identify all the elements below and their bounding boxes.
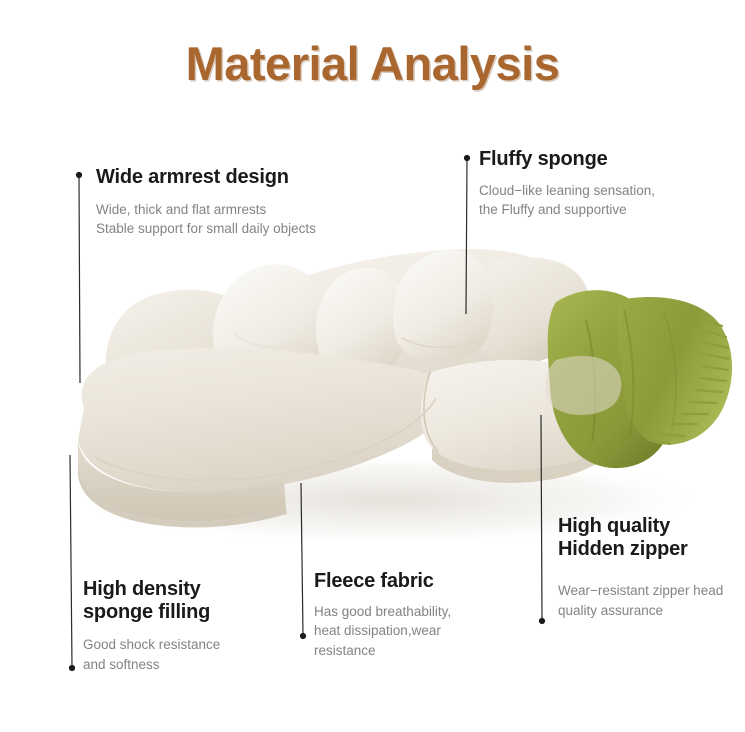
callout-title-wide-armrest-design: Wide armrest design — [96, 166, 316, 189]
callout-title-high-density-sponge-filling: High density sponge filling — [83, 578, 220, 623]
throw-blanket-drape — [617, 297, 732, 445]
callout-body-wide-armrest-design: Wide, thick and flat armrests Stable sup… — [96, 200, 316, 239]
callout-title-high-quality-hidden-zipper: High quality Hidden zipper — [558, 515, 723, 560]
callout-fluffy-sponge: Fluffy sponge Cloud−like leaning sensati… — [479, 148, 655, 220]
callout-body-fluffy-sponge: Cloud−like leaning sensation, the Fluffy… — [479, 181, 655, 220]
callout-high-density-sponge-filling: High density sponge filling Good shock r… — [83, 578, 220, 674]
material-analysis-infographic: Material Analysis — [0, 0, 745, 732]
callout-body-high-quality-hidden-zipper: Wear−resistant zipper head quality assur… — [558, 581, 723, 620]
callout-title-fluffy-sponge: Fluffy sponge — [479, 148, 655, 171]
callout-high-quality-hidden-zipper: High quality Hidden zipper Wear−resistan… — [558, 515, 723, 620]
callout-body-fleece-fabric: Has good breathability, heat dissipation… — [314, 602, 451, 661]
callout-wide-armrest-design: Wide armrest design Wide, thick and flat… — [96, 166, 316, 239]
sofa-right-arm-shading — [546, 356, 622, 415]
callout-fleece-fabric: Fleece fabric Has good breathability, he… — [314, 570, 451, 660]
callout-body-high-density-sponge-filling: Good shock resistance and softness — [83, 635, 220, 674]
callout-title-fleece-fabric: Fleece fabric — [314, 570, 451, 593]
